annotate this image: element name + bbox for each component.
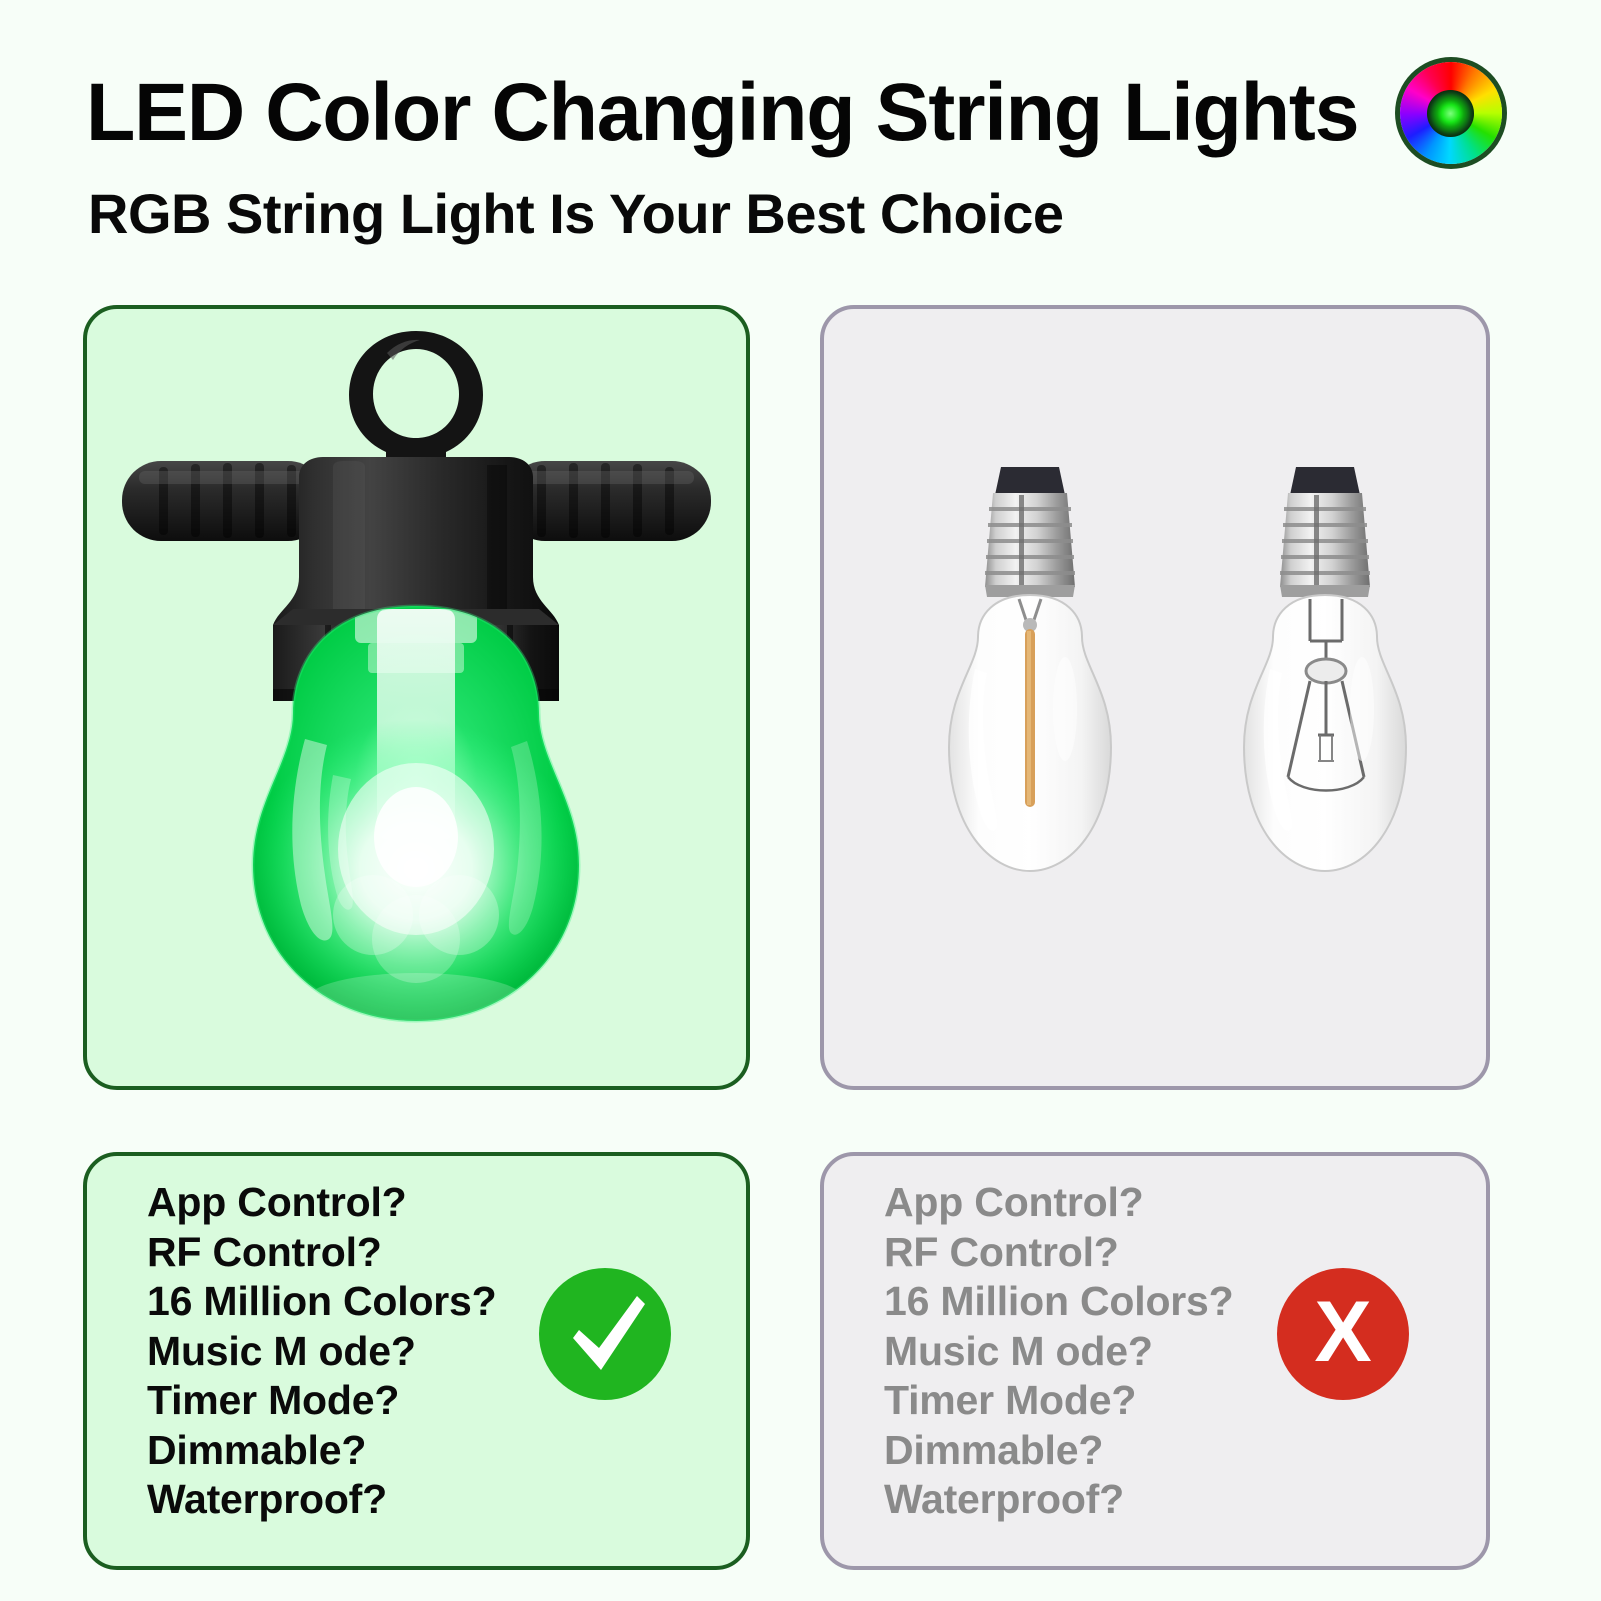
list-item: Music M ode? (147, 1327, 497, 1377)
x-icon: X (1314, 1289, 1371, 1375)
cross-badge: X (1277, 1268, 1409, 1400)
good-feature-list: App Control? RF Control? 16 Million Colo… (147, 1178, 497, 1525)
rgb-led-bulb-image (87, 309, 746, 1086)
list-item: 16 Million Colors? (884, 1277, 1234, 1327)
page-subtitle: RGB String Light Is Your Best Choice (88, 186, 1064, 242)
list-item: Waterproof? (884, 1475, 1234, 1525)
bulb-contact-tip (1290, 467, 1360, 495)
list-item: RF Control? (884, 1228, 1234, 1278)
good-feature-panel: App Control? RF Control? 16 Million Colo… (83, 1152, 750, 1570)
list-item: Timer Mode? (147, 1376, 497, 1426)
bad-feature-list: App Control? RF Control? 16 Million Colo… (884, 1178, 1234, 1525)
list-item: Music M ode? (884, 1327, 1234, 1377)
bad-product-image-panel (820, 305, 1490, 1090)
page-title: LED Color Changing String Lights (86, 72, 1358, 154)
bad-feature-panel: App Control? RF Control? 16 Million Colo… (820, 1152, 1490, 1570)
list-item: App Control? (147, 1178, 497, 1228)
check-icon (539, 1268, 671, 1400)
header: LED Color Changing String Lights RGB Str… (0, 0, 1601, 290)
clear-led-filament-bulb-image (915, 459, 1145, 899)
check-badge (539, 1268, 671, 1400)
title-row: LED Color Changing String Lights (86, 62, 1502, 164)
list-item: Timer Mode? (884, 1376, 1234, 1426)
list-item: Dimmable? (884, 1426, 1234, 1476)
bulb-glass (251, 606, 581, 1025)
wire-arm-right (506, 461, 711, 541)
list-item: Waterproof? (147, 1475, 497, 1525)
wire-arm-left (122, 461, 327, 541)
list-item: App Control? (884, 1178, 1234, 1228)
bulb-contact-tip (995, 467, 1065, 495)
list-item: 16 Million Colors? (147, 1277, 497, 1327)
good-product-image-panel (83, 305, 750, 1090)
list-item: Dimmable? (147, 1426, 497, 1476)
list-item: RF Control? (147, 1228, 497, 1278)
screw-base (1280, 493, 1370, 597)
screw-base (985, 493, 1075, 597)
socket-body (273, 457, 559, 625)
rgb-color-wheel-icon (1400, 62, 1502, 164)
clear-incandescent-bulb-image (1210, 459, 1440, 899)
infographic-page: LED Color Changing String Lights RGB Str… (0, 0, 1601, 1601)
rgb-wheel-hub (1427, 90, 1474, 137)
